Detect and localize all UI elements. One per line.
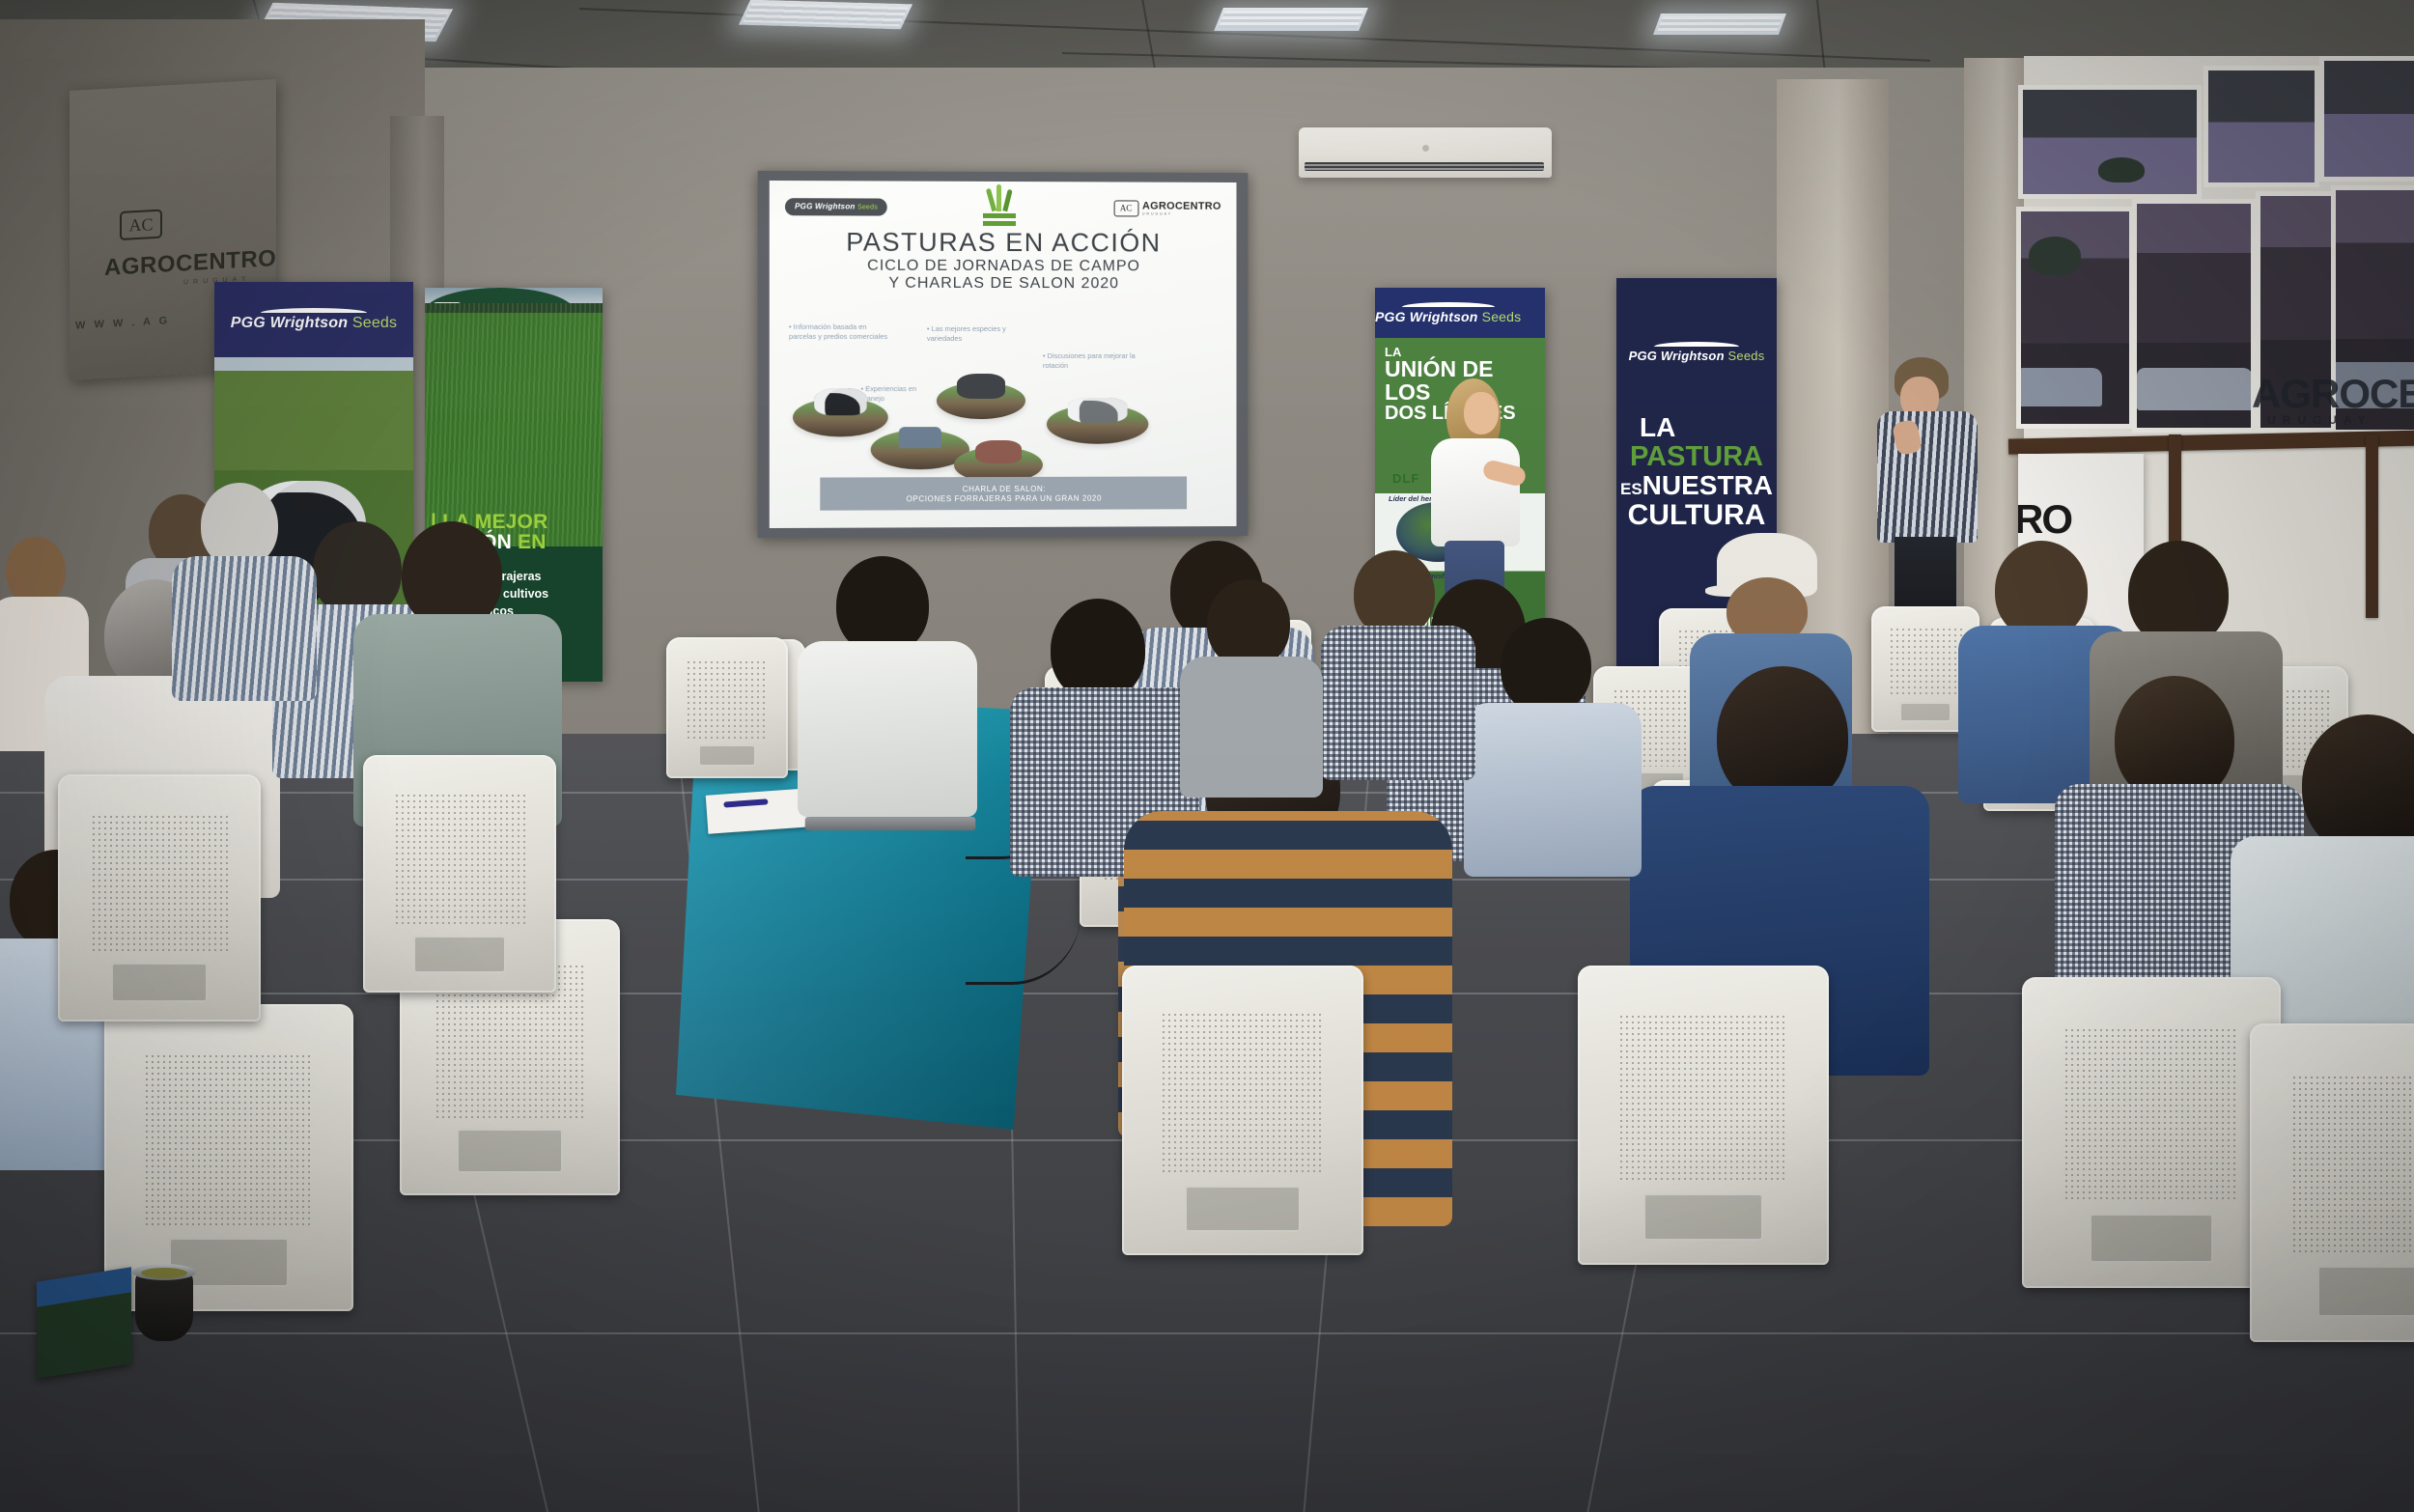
audience-head bbox=[1354, 550, 1435, 637]
slide-island-cow-red bbox=[954, 425, 1043, 483]
audience-torso bbox=[1321, 626, 1475, 780]
ac-mark-icon: AC bbox=[1113, 200, 1138, 216]
agrocentro-name: AGROCENTRO bbox=[1142, 201, 1221, 212]
banner-headline-pastura: PASTURA bbox=[1616, 442, 1777, 472]
audience-head bbox=[1207, 579, 1290, 668]
audience-torso bbox=[1464, 703, 1642, 877]
mate-yerba bbox=[141, 1268, 187, 1278]
ac-led-icon bbox=[1422, 145, 1429, 152]
projection-screen: PGG Wrightson Seeds AC AGROCENTRO bbox=[758, 171, 1249, 538]
ac-vent bbox=[1305, 162, 1544, 171]
pgg-seeds-text: Seeds bbox=[857, 204, 878, 210]
grass-icon bbox=[979, 188, 1022, 227]
chair-empty bbox=[666, 637, 788, 778]
audience-head bbox=[1501, 618, 1591, 714]
slide-title-line1: PASTURAS EN ACCIÓN bbox=[785, 227, 1221, 258]
pgg-seeds-text: Seeds bbox=[352, 315, 397, 331]
banner-headline-nuestra: ESNUESTRA bbox=[1616, 471, 1777, 500]
audience-head bbox=[2302, 714, 2414, 855]
pgg-brand-text: PGG Wrightson bbox=[1629, 349, 1725, 363]
pen bbox=[723, 798, 768, 807]
window-pane-upper bbox=[2018, 85, 2202, 199]
cloth-banner-url: W W W . A G bbox=[75, 315, 170, 331]
standing-observer bbox=[1877, 357, 1978, 647]
audience-head bbox=[1051, 599, 1145, 701]
ceiling-light-panel bbox=[1653, 14, 1786, 35]
slide-footer-line1: CHARLA DE SALON: bbox=[820, 484, 1187, 493]
window-vinyl-text: AGROCENTRO bbox=[2252, 371, 2414, 417]
banner-headline: LA PASTURA ESNUESTRA CULTURA bbox=[1616, 413, 1777, 531]
pgg-brand-text: PGG Wrightson bbox=[795, 202, 856, 210]
banner-head-pgg: PGG Wrightson Seeds bbox=[1375, 288, 1521, 338]
window-pane-upper bbox=[2319, 56, 2414, 182]
chair bbox=[1122, 966, 1363, 1255]
window-pane-upper bbox=[2203, 66, 2319, 187]
audience-torso bbox=[172, 556, 317, 701]
audience-member bbox=[1190, 579, 1305, 772]
notepad bbox=[706, 788, 813, 833]
banner-partner-logo: DLF bbox=[1392, 471, 1419, 486]
presenter-shirt bbox=[1431, 438, 1520, 546]
window-pane-lower bbox=[2132, 199, 2256, 433]
pgg-seeds-text: Seeds bbox=[1728, 349, 1765, 363]
slide-title-line3: Y CHARLAS DE SALON 2020 bbox=[785, 275, 1221, 294]
window-guard-rail bbox=[2008, 430, 2414, 454]
window-pane-lower bbox=[2016, 207, 2134, 429]
chair bbox=[1578, 966, 1829, 1265]
audience-member bbox=[1477, 618, 1622, 859]
presenter-face bbox=[1464, 392, 1499, 434]
window-vinyl-sub: URUGUAY bbox=[2267, 413, 2372, 427]
banner-headline-la: LA bbox=[1616, 413, 1777, 442]
ceiling-light-panel bbox=[739, 0, 912, 29]
presentation-slide: PGG Wrightson Seeds AC AGROCENTRO bbox=[770, 181, 1237, 528]
chair bbox=[58, 774, 261, 1022]
cloth-banner-logo: AC bbox=[120, 210, 162, 240]
audience-head bbox=[201, 483, 278, 568]
audience-torso bbox=[1180, 657, 1323, 798]
slide-logo-row: PGG Wrightson Seeds AC AGROCENTRO bbox=[785, 190, 1221, 225]
audience-member bbox=[180, 483, 295, 676]
projection-screen-surface: PGG Wrightson Seeds AC AGROCENTRO bbox=[770, 181, 1237, 528]
ceiling-light-panel bbox=[1214, 8, 1368, 31]
chair bbox=[363, 755, 556, 993]
laptop-base bbox=[805, 817, 976, 830]
window-guard-rail-post bbox=[2366, 434, 2378, 618]
pgg-brand-text: PGG Wrightson bbox=[1375, 309, 1478, 324]
chair bbox=[2250, 1023, 2414, 1342]
slide-bullet: Discusiones para mejorar la rotación bbox=[1043, 351, 1142, 371]
slide-bullet: Información basada en parcelas y predios… bbox=[789, 322, 894, 342]
banner-head-pgg: PGG Wrightson Seeds bbox=[1616, 342, 1777, 363]
audience-member bbox=[811, 556, 956, 798]
banner-headline-cultura: CULTURA bbox=[1616, 500, 1777, 531]
slide-bullet: Las mejores especies y variedades bbox=[927, 324, 1027, 344]
audience-head bbox=[836, 556, 929, 655]
air-conditioner-unit bbox=[1299, 127, 1552, 178]
slide-island-cow-black bbox=[937, 359, 1025, 419]
agrocentro-sub: URUGUAY bbox=[1142, 211, 1221, 215]
audience-head bbox=[6, 537, 66, 604]
audience-torso bbox=[798, 641, 977, 817]
slide-footer-banner: CHARLA DE SALON: OPCIONES FORRAJERAS PAR… bbox=[820, 476, 1187, 510]
audience-head bbox=[1995, 541, 2088, 639]
audience-member bbox=[1333, 550, 1458, 763]
agrocentro-logo: AC AGROCENTRO URUGUAY bbox=[1113, 200, 1221, 216]
ac-mark-icon: AC bbox=[120, 210, 162, 240]
pgg-seeds-text: Seeds bbox=[1482, 309, 1522, 324]
presentation-room-photo: AC AGROCENTRO URUGUAY W W W . A G AGROCE… bbox=[0, 0, 2414, 1512]
brochure-on-floor bbox=[37, 1267, 131, 1379]
slide-title-line2: CICLO DE JORNADAS DE CAMPO bbox=[785, 257, 1221, 275]
pgg-wrightson-logo: PGG Wrightson Seeds bbox=[785, 198, 887, 215]
slide-title: PASTURAS EN ACCIÓN CICLO DE JORNADAS DE … bbox=[785, 227, 1221, 293]
banner-right-partial-text: RO bbox=[2018, 496, 2071, 543]
banner-headline-es: ES bbox=[1620, 480, 1642, 498]
pgg-brand-text: PGG Wrightson bbox=[231, 315, 348, 331]
slide-footer-line2: OPCIONES FORRAJERAS PARA UN GRAN 2020 bbox=[820, 493, 1187, 503]
chair bbox=[2022, 977, 2281, 1288]
slide-island-cows-herd bbox=[1047, 380, 1148, 444]
mate-gourd bbox=[135, 1270, 193, 1341]
